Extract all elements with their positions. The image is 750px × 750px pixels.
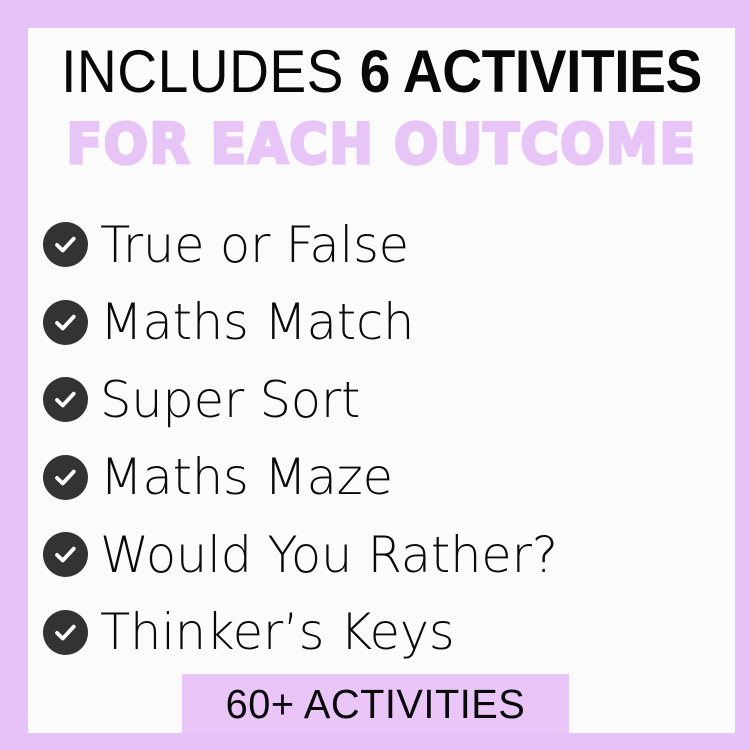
activities-count-label: 60+ ACTIVITIES <box>226 682 526 726</box>
list-item-label: Maths Match <box>100 294 414 350</box>
activities-count-banner: 60+ ACTIVITIES <box>182 674 569 733</box>
check-circle-icon <box>43 300 88 345</box>
list-item: Thinker’s Keys <box>43 594 733 672</box>
check-circle-icon <box>43 610 88 655</box>
list-item-label: True or False <box>100 217 409 273</box>
poster-canvas: INCLUDES 6 ACTIVITIES FOR EACH OUTCOME T… <box>0 0 750 750</box>
headline-line-2: FOR EACH OUTCOME <box>28 110 735 178</box>
headline-line-1: INCLUDES 6 ACTIVITIES <box>56 36 706 108</box>
list-item: True or False <box>43 206 733 284</box>
list-item-label: Super Sort <box>100 372 360 428</box>
list-item-label: Maths Maze <box>100 449 393 505</box>
check-circle-icon <box>43 455 88 500</box>
check-circle-icon <box>43 222 88 267</box>
activities-checklist: True or False Maths Match Super Sort <box>43 206 733 671</box>
headline-activities-count: 6 ACTIVITIES <box>360 38 702 105</box>
check-circle-icon <box>43 377 88 422</box>
poster-inner-card: INCLUDES 6 ACTIVITIES FOR EACH OUTCOME T… <box>28 28 735 733</box>
list-item: Super Sort <box>43 361 733 439</box>
list-item-label: Thinker’s Keys <box>100 604 454 660</box>
headline-includes-word: INCLUDES <box>61 38 360 105</box>
list-item: Maths Match <box>43 284 733 362</box>
list-item: Would You Rather? <box>43 516 733 594</box>
list-item-label: Would You Rather? <box>100 527 558 583</box>
list-item: Maths Maze <box>43 439 733 517</box>
check-circle-icon <box>43 532 88 577</box>
